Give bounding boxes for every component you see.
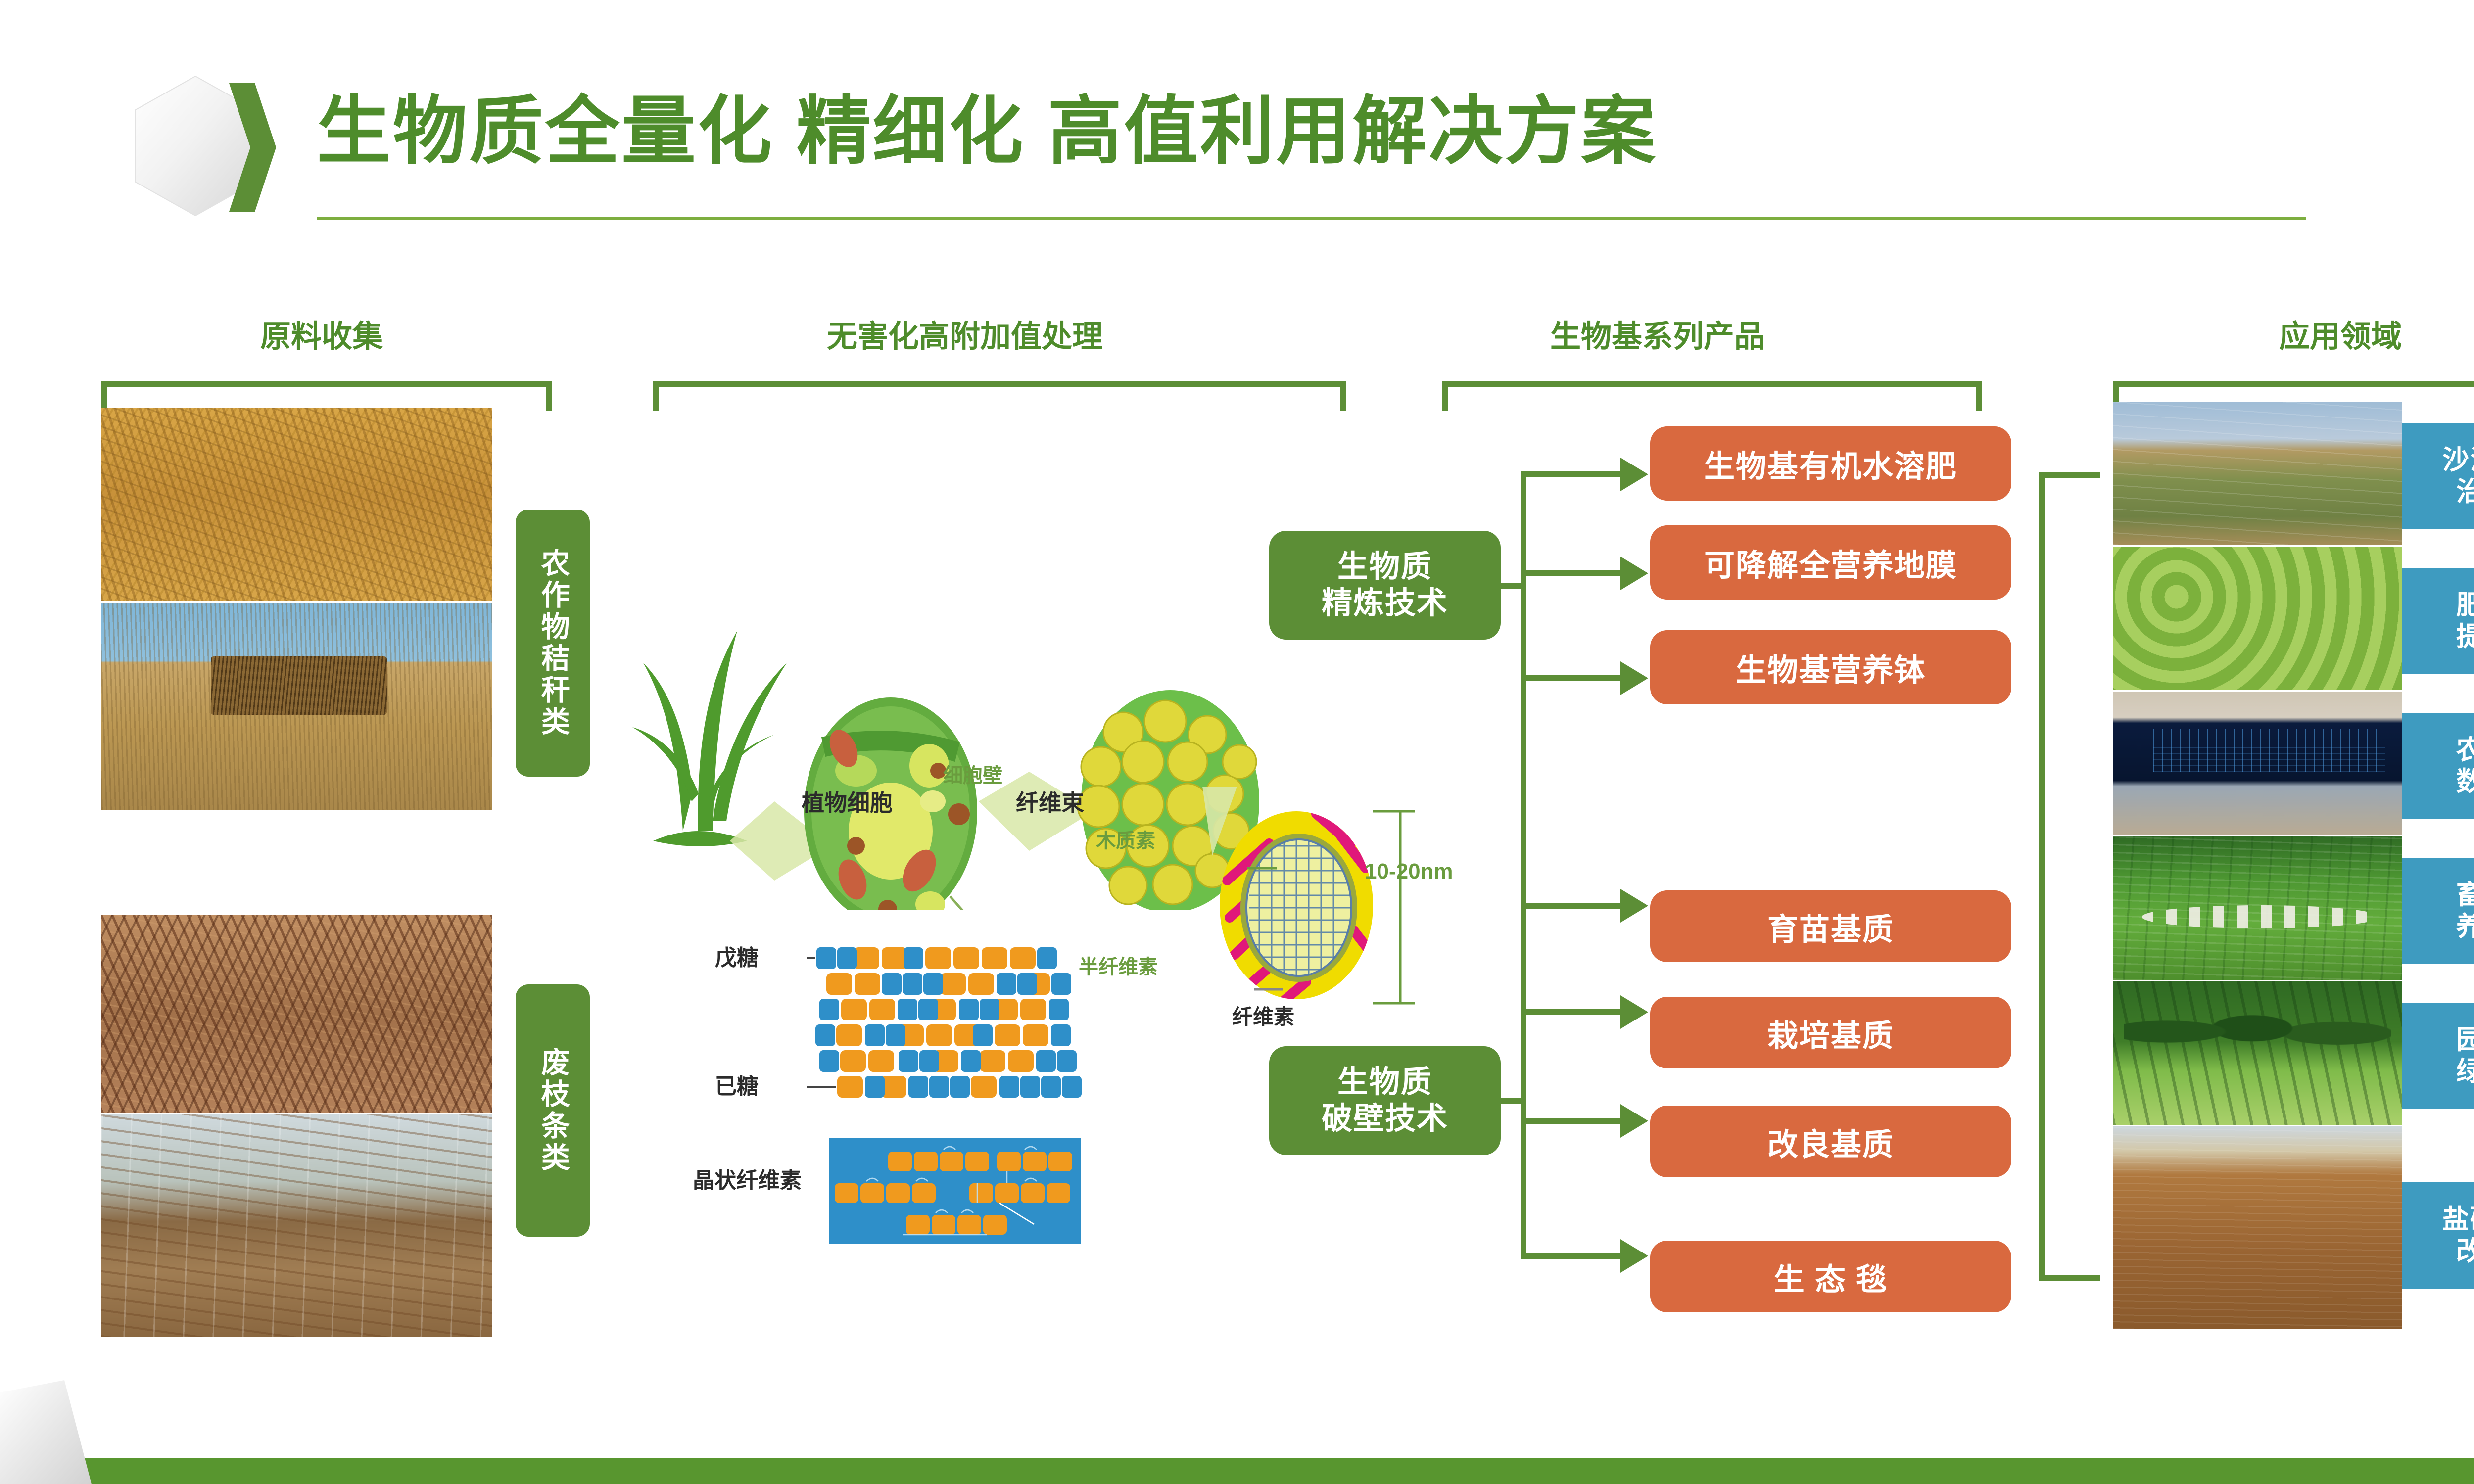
application-label-saline-alkali-land-improvement[interactable]: 盐碱地 改良 bbox=[2402, 1182, 2474, 1289]
app-line1: 盐碱地 bbox=[2442, 1204, 2474, 1236]
footer-bar bbox=[0, 1458, 2474, 1484]
connector-refining-b1 bbox=[1521, 471, 1624, 477]
chevron-right-icon bbox=[229, 83, 276, 212]
slide-root: 生物质全量化 精细化 高值利用解决方案 原料收集 无害化高附加值处理 生物基系列… bbox=[0, 0, 2474, 1484]
application-label-desertification-control[interactable]: 沙漠化 治理 bbox=[2402, 423, 2474, 529]
tech-box-biomass-wall-breaking[interactable]: 生物质 破壁技术 bbox=[1269, 1046, 1501, 1155]
tech2-label-line1: 生物质 bbox=[1337, 1064, 1432, 1101]
bracket-applications-bottom bbox=[2039, 1275, 2100, 1281]
connector-refining-b2 bbox=[1521, 570, 1624, 576]
bracket-processing bbox=[653, 381, 1346, 411]
label-lignin: 木质素 bbox=[1096, 831, 1155, 851]
connector-refining-b3 bbox=[1521, 675, 1624, 681]
bracket-raw-material bbox=[101, 381, 552, 411]
page-title: 生物质全量化 精细化 高值利用解决方案 bbox=[317, 94, 1657, 168]
connector-wallbreak-b3 bbox=[1521, 1118, 1624, 1124]
tech2-label-line2: 破壁技术 bbox=[1322, 1101, 1448, 1137]
connector-wallbreak-spine bbox=[1521, 903, 1526, 1259]
tech-box-biomass-refining[interactable]: 生物质 精炼技术 bbox=[1269, 531, 1501, 640]
arrow-refining-1 bbox=[1620, 458, 1648, 491]
arrow-wallbreak-2 bbox=[1620, 995, 1648, 1029]
photo-orchard-pruning bbox=[101, 1114, 492, 1337]
bracket-applications-top bbox=[2039, 472, 2100, 478]
app-line1: 畜牧 bbox=[2456, 880, 2474, 911]
title-underline bbox=[317, 217, 2306, 220]
product-biobased-organic-water-soluble-fertilizer[interactable]: 生物基有机水溶肥 bbox=[1650, 426, 2011, 501]
arrow-refining-2 bbox=[1620, 556, 1648, 590]
arrow-refining-3 bbox=[1620, 661, 1648, 695]
app-line2: 数据 bbox=[2456, 766, 2474, 798]
product-degradable-full-nutrient-mulch-film[interactable]: 可降解全营养地膜 bbox=[1650, 525, 2011, 600]
photo-straw-bale-field bbox=[101, 603, 492, 810]
application-label-fertility-improvement[interactable]: 肥力 提升 bbox=[2402, 568, 2474, 674]
label-cellulose: 纤维素 bbox=[1232, 1007, 1294, 1027]
photo-park-trees bbox=[2113, 981, 2402, 1125]
footer-wedge-decoration bbox=[0, 1380, 134, 1484]
bracket-products bbox=[1442, 381, 1982, 411]
photo-corn-straw-field bbox=[101, 408, 492, 601]
tag-waste-branches: 废枝条类 bbox=[516, 984, 590, 1237]
app-line1: 农业 bbox=[2456, 735, 2474, 766]
label-plant-cell: 植物细胞 bbox=[802, 791, 893, 814]
bracket-applications-spine bbox=[2039, 472, 2045, 1281]
app-line1: 园林 bbox=[2456, 1024, 2474, 1056]
tech-label-line2: 精炼技术 bbox=[1322, 585, 1448, 622]
application-label-agricultural-data[interactable]: 农业 数据 bbox=[2402, 713, 2474, 819]
column-header-raw-material-collection: 原料收集 bbox=[148, 322, 495, 352]
photo-sheep-pasture bbox=[2113, 836, 2402, 980]
photo-cabbage-field bbox=[2113, 547, 2402, 690]
label-fiber-bundle: 纤维束 bbox=[1016, 791, 1084, 814]
column-header-applications: 应用领域 bbox=[2118, 322, 2474, 352]
sugar-chain-diagram bbox=[807, 942, 1207, 1106]
column-header-processing: 无害化高附加值处理 bbox=[643, 322, 1286, 352]
product-seedling-substrate[interactable]: 育苗基质 bbox=[1650, 890, 2011, 962]
application-label-landscape-greening[interactable]: 园林 绿化 bbox=[2402, 1003, 2474, 1109]
column-header-products: 生物基系列产品 bbox=[1385, 322, 1930, 352]
app-line2: 治理 bbox=[2456, 476, 2474, 508]
app-line1: 肥力 bbox=[2456, 590, 2474, 621]
photo-desert-restoration bbox=[2113, 402, 2402, 545]
label-hexose: 已糖 bbox=[715, 1076, 759, 1098]
app-line2: 绿化 bbox=[2456, 1056, 2474, 1088]
crystalline-cellulose-panel bbox=[829, 1138, 1081, 1244]
label-fiber-scale: 10-20nm bbox=[1365, 861, 1453, 882]
arrow-wallbreak-4 bbox=[1620, 1239, 1648, 1273]
app-line2: 养殖 bbox=[2456, 911, 2474, 943]
arrow-wallbreak-3 bbox=[1620, 1104, 1648, 1138]
app-line2: 提升 bbox=[2456, 621, 2474, 653]
app-line2: 改良 bbox=[2456, 1236, 2474, 1267]
application-label-livestock-breeding[interactable]: 畜牧 养殖 bbox=[2402, 858, 2474, 964]
connector-wallbreak-b4 bbox=[1521, 1253, 1624, 1259]
product-improvement-substrate[interactable]: 改良基质 bbox=[1650, 1106, 2011, 1177]
tech-label-line1: 生物质 bbox=[1337, 549, 1432, 585]
tag-crop-straw: 农作物秸秆类 bbox=[516, 510, 590, 777]
connector-wallbreak-b2 bbox=[1521, 1009, 1624, 1015]
photo-saline-soil bbox=[2113, 1126, 2402, 1329]
app-line1: 沙漠化 bbox=[2442, 445, 2474, 476]
label-crystalline-cellulose: 晶状纤维素 bbox=[693, 1170, 802, 1192]
photo-data-control-room bbox=[2113, 692, 2402, 835]
product-cultivation-substrate[interactable]: 栽培基质 bbox=[1650, 997, 2011, 1068]
label-cell-wall: 细胞壁 bbox=[943, 766, 1002, 786]
photo-pruned-branches bbox=[101, 915, 492, 1113]
product-ecological-blanket[interactable]: 生 态 毯 bbox=[1650, 1241, 2011, 1312]
product-biobased-nutrient-pot[interactable]: 生物基营养钵 bbox=[1650, 630, 2011, 704]
arrow-wallbreak-1 bbox=[1620, 889, 1648, 923]
label-pentose: 戊糖 bbox=[715, 947, 759, 969]
connector-wallbreak-b1 bbox=[1521, 903, 1624, 909]
